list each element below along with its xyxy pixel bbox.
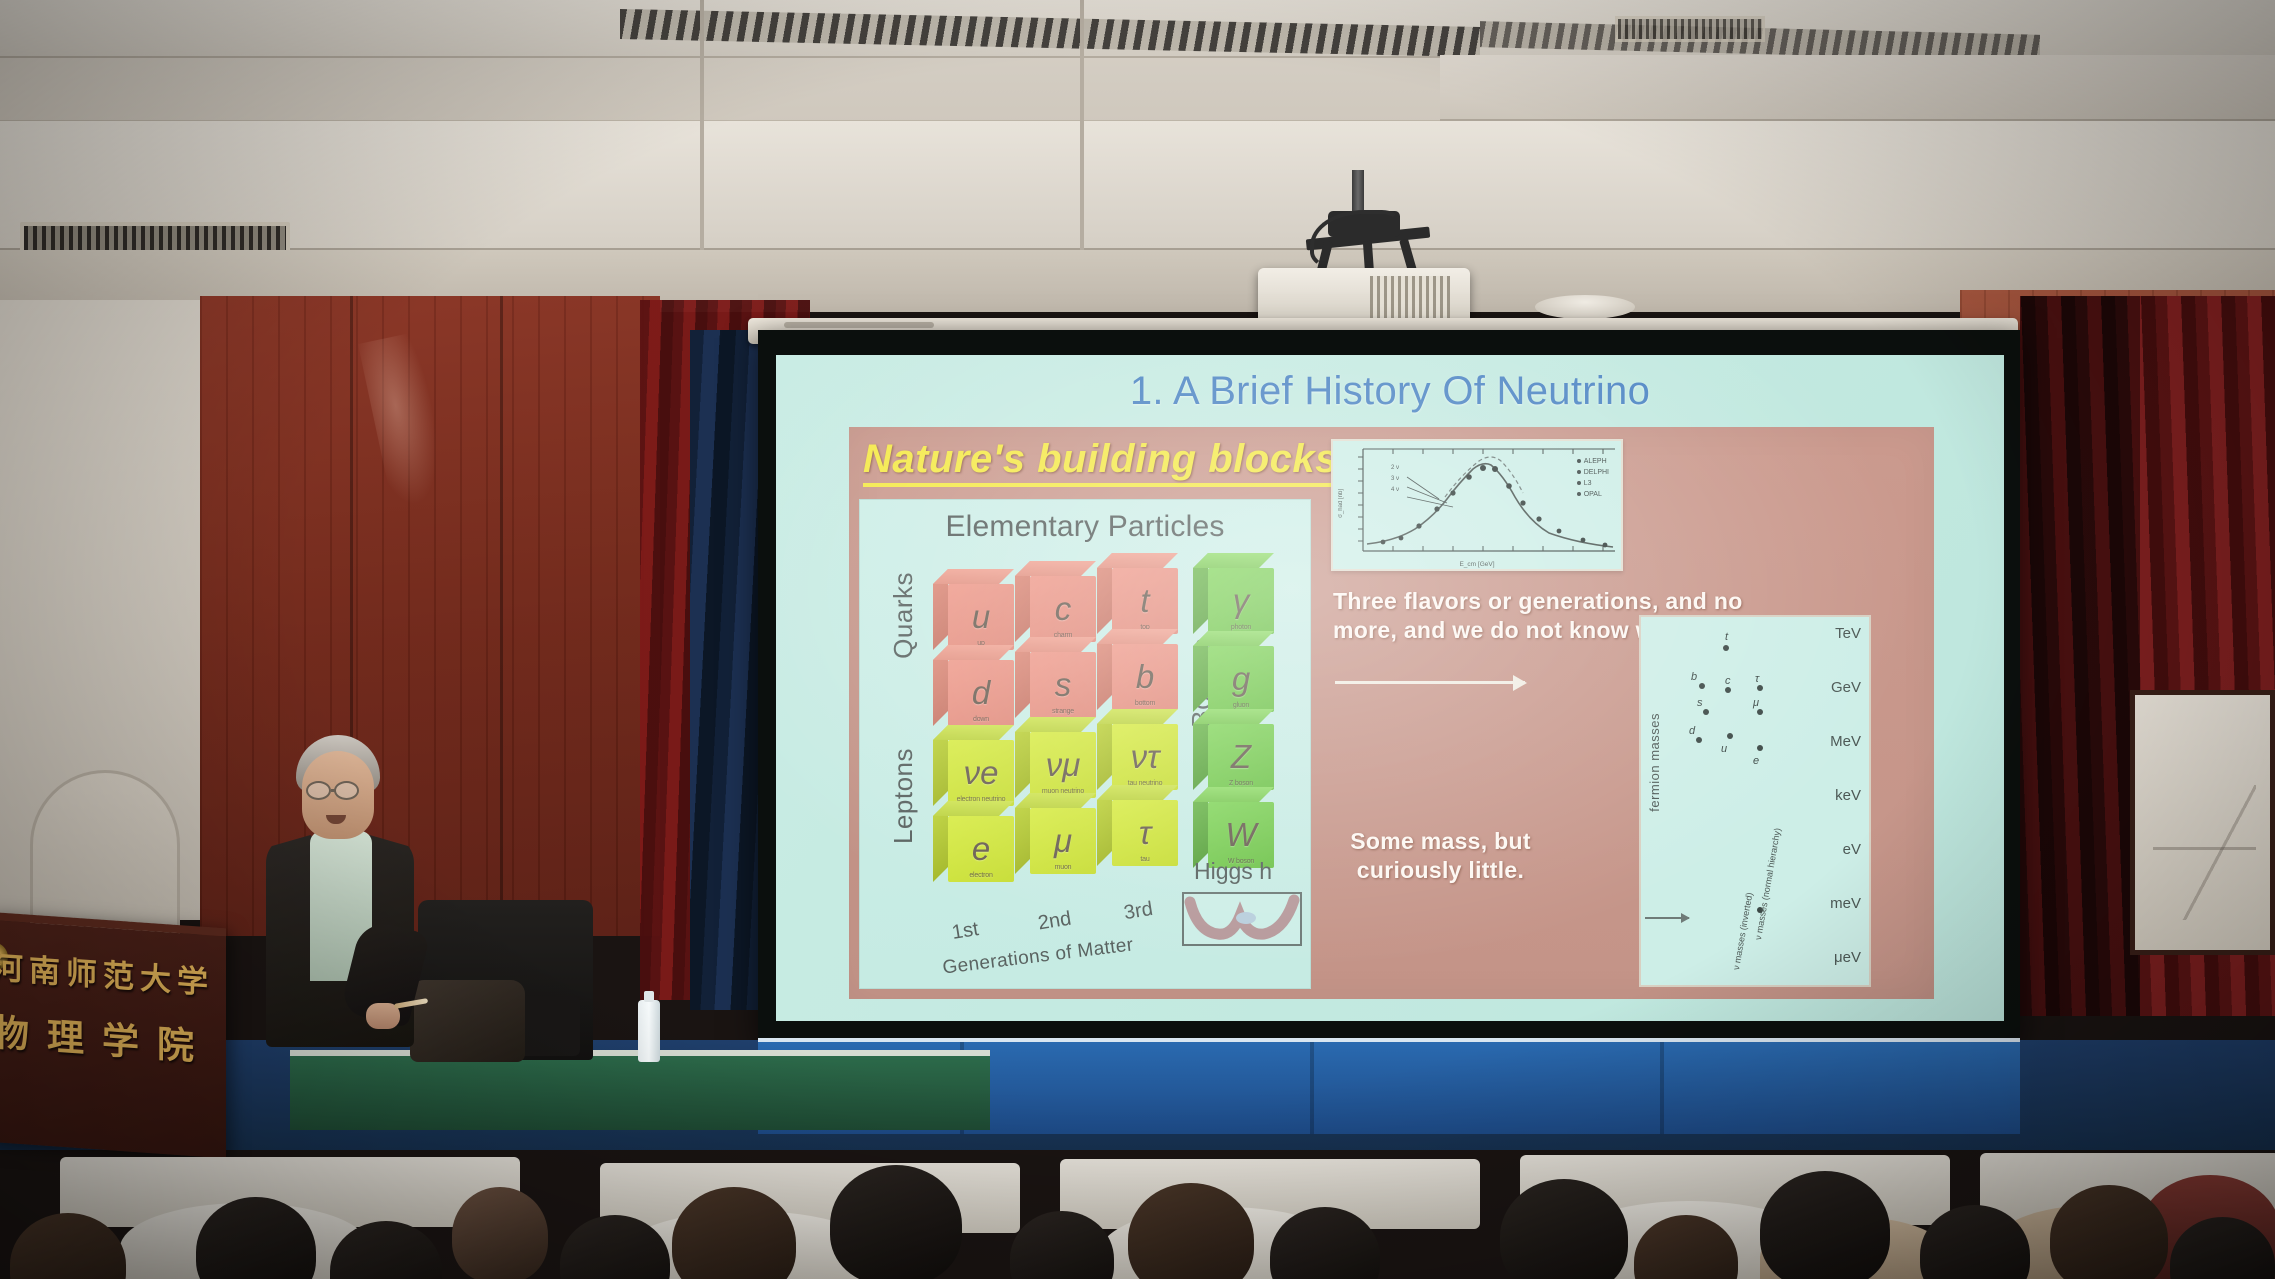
- particle-symbol: ντ: [1131, 738, 1160, 776]
- particle-cube-tau: τ tau: [1112, 800, 1178, 866]
- mass-label-b: b: [1691, 671, 1697, 683]
- glasses-lens-right-icon: [334, 781, 359, 800]
- curtain-right-dark: [2020, 296, 2140, 1016]
- audience-head: [830, 1165, 962, 1279]
- legend-item: DELPHI: [1577, 468, 1609, 479]
- particle-symbol: τ: [1139, 814, 1151, 852]
- particle-cube-b: b bottom: [1112, 644, 1178, 710]
- particle-cube-t: t top: [1112, 568, 1178, 634]
- ceiling-band: [0, 120, 2275, 250]
- ceiling-seam-2: [1080, 0, 1084, 250]
- particle-symbol: s: [1055, 666, 1072, 704]
- fermion-mass-axis-label: fermion masses: [1647, 713, 1662, 812]
- annot-3nu: 3 ν: [1391, 474, 1399, 485]
- legend-item: L3: [1577, 479, 1609, 490]
- nu-mass-tilt-label-1: ν masses (normal hierarchy): [1753, 827, 1783, 941]
- mass-label-c: c: [1725, 675, 1731, 687]
- particle-name: photon: [1208, 624, 1274, 631]
- particle-symbol: W: [1225, 816, 1256, 854]
- mass-marker-e: [1757, 745, 1763, 751]
- slide-heading: Nature's building blocks: [863, 437, 1338, 487]
- particle-cube-photon: γ photon: [1208, 568, 1274, 634]
- particle-symbol: μ: [1054, 822, 1072, 860]
- particle-name: gluon: [1208, 702, 1274, 709]
- mass-label-u: u: [1721, 743, 1727, 755]
- particle-symbol: d: [972, 674, 990, 712]
- z-chart-curve-annotations: 2 ν 3 ν 4 ν: [1391, 463, 1399, 495]
- particle-symbol: u: [972, 598, 990, 636]
- particle-cube-nu-e: νe electron neutrino: [948, 740, 1014, 806]
- lecture-hall-scene: 1. A Brief History Of Neutrino Nature's …: [0, 0, 2275, 1279]
- mass-marker-tau: [1757, 685, 1763, 691]
- particle-cube-mu: μ muon: [1030, 808, 1096, 874]
- mass-label-d: d: [1689, 725, 1695, 737]
- mass-label-tau: τ: [1755, 673, 1759, 685]
- wood-panel-seam-2: [500, 296, 503, 936]
- mass-marker-s: [1703, 709, 1709, 715]
- particle-symbol: e: [972, 830, 990, 868]
- generation-3rd: 3rd: [1122, 898, 1154, 925]
- elementary-particles-panel: Elementary Particles Quarks Leptons Boso…: [859, 499, 1311, 989]
- ceiling-seam: [700, 0, 704, 250]
- particle-name: Z boson: [1208, 780, 1274, 787]
- smoke-detector-icon: [1535, 295, 1635, 319]
- scale-kev: keV: [1835, 787, 1861, 804]
- mass-marker-b: [1699, 683, 1705, 689]
- projection-screen-frame: 1. A Brief History Of Neutrino Nature's …: [758, 330, 2020, 1042]
- mass-marker-mu: [1757, 709, 1763, 715]
- air-vent-right-icon: [1615, 16, 1765, 42]
- scale-ev: eV: [1843, 841, 1861, 858]
- wall-left: [0, 300, 215, 920]
- particle-name: tau: [1112, 856, 1178, 863]
- axis-label-leptons: Leptons: [888, 748, 919, 844]
- scale-gev: GeV: [1831, 679, 1861, 696]
- mass-marker-t: [1723, 645, 1729, 651]
- particle-cube-s: s strange: [1030, 652, 1096, 718]
- scale-tev: TeV: [1835, 625, 1861, 642]
- elementary-particles-title: Elementary Particles: [860, 510, 1310, 544]
- scale-mev: MeV: [1830, 733, 1861, 750]
- mass-label-mu: μ: [1753, 697, 1759, 709]
- particle-cube-z: Z Z boson: [1208, 724, 1274, 790]
- mass-marker-d: [1696, 737, 1702, 743]
- particle-name: electron: [948, 872, 1014, 879]
- particle-name: bottom: [1112, 700, 1178, 707]
- z-chart-ylabel: σ_had [nb]: [1338, 489, 1344, 518]
- audience: [0, 1035, 2275, 1279]
- annotation-mass: Some mass, but curiously little.: [1333, 827, 1548, 885]
- glasses-bridge-icon: [331, 789, 336, 792]
- z-chart-xlabel: E_cm [GeV]: [1333, 561, 1621, 568]
- glasses-lens-left-icon: [306, 781, 331, 800]
- mass-label-s: s: [1697, 697, 1703, 709]
- legend-item: OPAL: [1577, 490, 1609, 501]
- audience-head: [1760, 1171, 1890, 1279]
- podium-university-name: 河南师范大学: [0, 942, 214, 1003]
- particle-symbol: t: [1140, 582, 1149, 620]
- particle-name: strange: [1030, 708, 1096, 715]
- generation-1st: 1st: [950, 918, 980, 945]
- particle-symbol: νμ: [1046, 746, 1081, 784]
- particle-cube-d: d down: [948, 660, 1014, 726]
- particle-cube-e: e electron: [948, 816, 1014, 882]
- scale-mev-milli: meV: [1830, 895, 1861, 912]
- particle-cube-gluon: g gluon: [1208, 646, 1274, 712]
- higgs-label: Higgs h: [1194, 858, 1272, 885]
- particle-symbol: Z: [1231, 738, 1251, 776]
- speaker: [250, 735, 430, 1045]
- arrow-to-mass-chart-icon: [1335, 681, 1525, 684]
- generation-2nd: 2nd: [1036, 908, 1073, 936]
- particle-cube-c: c charm: [1030, 576, 1096, 642]
- wall-poster-right: [2130, 690, 2275, 955]
- mass-label-e: e: [1753, 755, 1759, 767]
- annot-4nu: 4 ν: [1391, 485, 1399, 496]
- particle-symbol: νe: [964, 754, 999, 792]
- nu-mass-tilt-label-2: ν masses (inverted): [1731, 892, 1754, 971]
- z-chart-legend: ALEPH DELPHI L3 OPAL: [1577, 457, 1609, 500]
- mexican-hat-icon: [1184, 894, 1300, 944]
- particle-cube-nu-tau: ντ tau neutrino: [1112, 724, 1178, 790]
- legend-item: ALEPH: [1577, 457, 1609, 468]
- particle-symbol: c: [1055, 590, 1072, 628]
- particle-name: down: [948, 716, 1014, 723]
- particle-cube-u: u up: [948, 584, 1014, 650]
- mass-marker-u: [1727, 733, 1733, 739]
- ceiling: [0, 0, 2275, 310]
- higgs-potential-diagram: [1182, 892, 1302, 946]
- particle-cube-nu-mu: νμ muon neutrino: [1030, 732, 1096, 798]
- z-resonance-chart: 2 ν 3 ν 4 ν ALEPH DELPHI L3 OPAL σ_had […: [1331, 439, 1623, 571]
- particle-symbol: b: [1136, 658, 1154, 696]
- ceiling-soffit-right: [1440, 55, 2275, 121]
- audience-head: [452, 1187, 548, 1279]
- mass-marker-c: [1725, 687, 1731, 693]
- slide-title: 1. A Brief History Of Neutrino: [776, 369, 2004, 414]
- fermion-mass-panel: fermion masses TeV GeV MeV keV eV meV μe…: [1639, 615, 1871, 987]
- arrow-into-mass-panel-icon: [1645, 917, 1689, 919]
- slide-content-panel: Nature's building blocks Elementary Part…: [849, 427, 1934, 999]
- scale-uev: μeV: [1834, 949, 1861, 966]
- axis-label-quarks: Quarks: [888, 572, 919, 659]
- projection-screen: 1. A Brief History Of Neutrino Nature's …: [776, 355, 2004, 1021]
- particle-symbol: γ: [1233, 582, 1250, 620]
- particle-name: muon: [1030, 864, 1096, 871]
- projector-vent-icon: [1370, 276, 1450, 322]
- mass-label-t: t: [1725, 631, 1728, 643]
- particle-symbol: g: [1232, 660, 1250, 698]
- annot-2nu: 2 ν: [1391, 463, 1399, 474]
